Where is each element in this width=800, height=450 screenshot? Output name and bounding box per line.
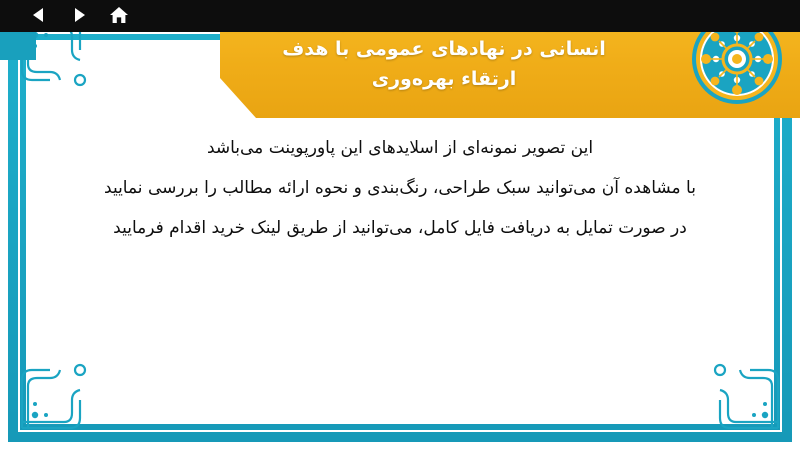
- slide-body-text: این تصویر نمونه‌ای از اسلایدهای این پاور…: [40, 128, 760, 248]
- body-line-1: این تصویر نمونه‌ای از اسلایدهای این پاور…: [40, 128, 760, 168]
- next-slide-button[interactable]: [66, 2, 92, 28]
- body-line-2: با مشاهده آن می‌توانید سبک طراحی، رنگ‌بن…: [40, 168, 760, 208]
- body-line-3: در صورت تمایل به دریافت فایل کامل، می‌تو…: [40, 208, 760, 248]
- previous-slide-button[interactable]: [26, 2, 52, 28]
- top-navigation-bar: [0, 0, 800, 32]
- slide-viewer: کامل ارائه مدل بهینه‌سازی برند منابع انس…: [0, 0, 800, 450]
- navigation-button-group: [26, 2, 132, 28]
- home-button[interactable]: [106, 2, 132, 28]
- slide-title-line-3: ارتقاء بهره‌وری: [238, 64, 650, 94]
- slide-title-line-2: انسانی در نهادهای عمومی با هدف: [238, 34, 650, 64]
- banner-accent-tab: [0, 32, 36, 60]
